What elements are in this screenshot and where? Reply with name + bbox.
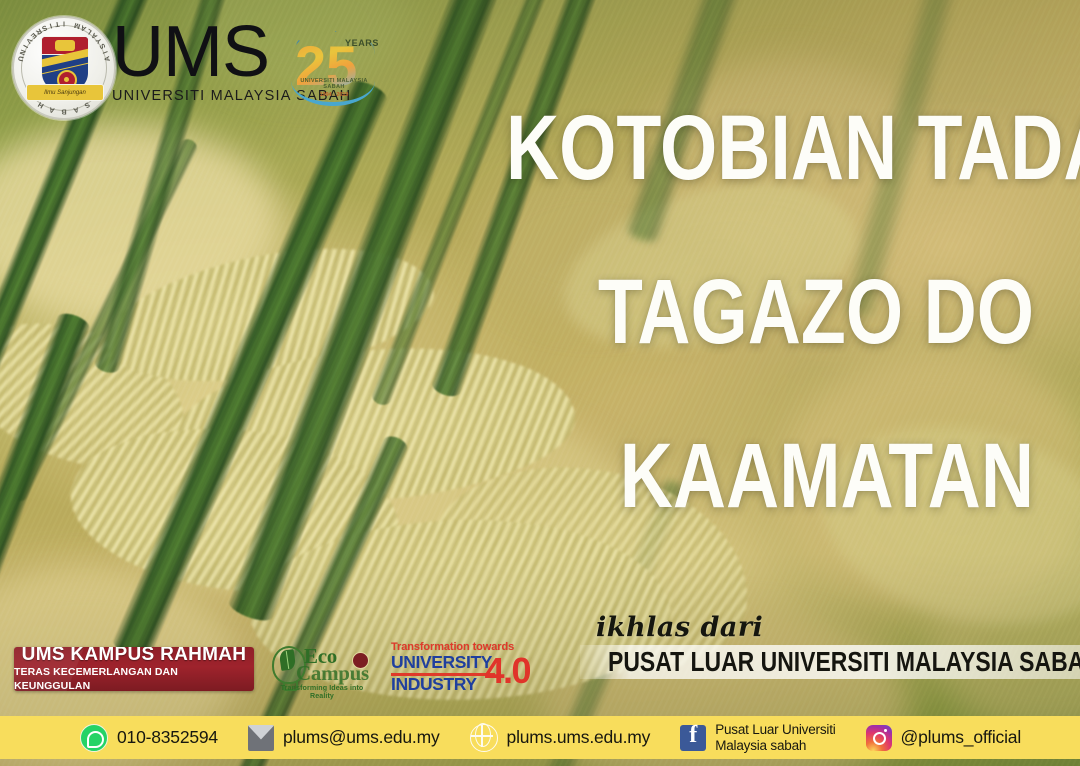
contact-whatsapp[interactable]: 010-8352594 xyxy=(80,724,218,752)
sender-prefix: ikhlas dari xyxy=(596,612,763,643)
facebook-icon xyxy=(680,725,706,751)
instagram-icon xyxy=(866,725,892,751)
facebook-page-line-1: Pusat Luar Universiti xyxy=(715,722,835,737)
contact-website[interactable]: plums.ums.edu.my xyxy=(470,724,651,752)
email-address: plums@ums.edu.my xyxy=(283,728,440,748)
eco-campus-seal-icon xyxy=(352,652,369,669)
headline-line-2: TAGAZO DO xyxy=(506,266,1034,358)
facebook-page-line-2: Malaysia sabah xyxy=(715,738,835,753)
anniversary-year-range: 1994 - 2019 xyxy=(289,92,379,98)
anniversary-25-years-logo: 25 YEARS UNIVERSITI MALAYSIA SABAH 1994 … xyxy=(285,16,381,110)
email-icon xyxy=(248,725,274,751)
industry40-version: 4.0 xyxy=(484,653,530,689)
eco-campus-tagline: Transforming Ideas into Reality xyxy=(270,684,374,700)
eco-campus-logo: Eco Campus Transforming Ideas into Reali… xyxy=(270,640,374,698)
anniversary-years-label: YEARS xyxy=(345,38,379,48)
facebook-page-name: Pusat Luar Universiti Malaysia sabah xyxy=(715,722,835,752)
whatsapp-number: 010-8352594 xyxy=(117,728,218,748)
campaign-badge-row: UMS KAMPUS RAHMAH TERAS KECEMERLANGAN DA… xyxy=(14,640,530,698)
website-url: plums.ums.edu.my xyxy=(507,728,651,748)
globe-icon xyxy=(470,724,498,752)
crest-motto-scroll: Ilmu Sanjungan xyxy=(26,84,104,101)
contact-facebook[interactable]: Pusat Luar Universiti Malaysia sabah xyxy=(680,722,835,752)
sender-band: PUSAT LUAR UNIVERSITI MALAYSIA SABAH xyxy=(580,645,1080,679)
anniversary-org-label: UNIVERSITI MALAYSIA SABAH xyxy=(289,78,379,90)
contact-footer: 010-8352594 plums@ums.edu.my plums.ums.e… xyxy=(0,716,1080,759)
sender-name: PUSAT LUAR UNIVERSITI MALAYSIA SABAH xyxy=(608,646,1080,678)
instagram-handle: @plums_official xyxy=(901,728,1021,748)
poster-headline: KOTOBIAN TADAU TAGAZO DO KAAMATAN xyxy=(374,102,1034,522)
industry40-line-2: UNIVERSITY xyxy=(391,654,492,672)
industry40-line-3: INDUSTRY xyxy=(391,676,477,694)
ums-kampus-rahmah-badge: UMS KAMPUS RAHMAH TERAS KECEMERLANGAN DA… xyxy=(14,647,254,691)
headline-line-1: KOTOBIAN TADAU xyxy=(506,102,1034,194)
whatsapp-icon xyxy=(80,724,108,752)
contact-email[interactable]: plums@ums.edu.my xyxy=(248,725,440,751)
headline-line-3: KAAMATAN xyxy=(506,430,1034,522)
poster-canvas: UNIVERSITI MALAYSIASABAH Ilmu Sanjungan … xyxy=(0,0,1080,766)
rahmah-title: UMS KAMPUS RAHMAH xyxy=(22,647,247,664)
industry-4-0-logo: Transformation towards UNIVERSITY INDUST… xyxy=(390,641,530,697)
rahmah-subtitle: TERAS KECEMERLANGAN DAN KEUNGGULAN xyxy=(14,666,254,691)
ums-crest-icon: UNIVERSITI MALAYSIASABAH Ilmu Sanjungan xyxy=(12,16,116,120)
contact-instagram[interactable]: @plums_official xyxy=(866,725,1021,751)
